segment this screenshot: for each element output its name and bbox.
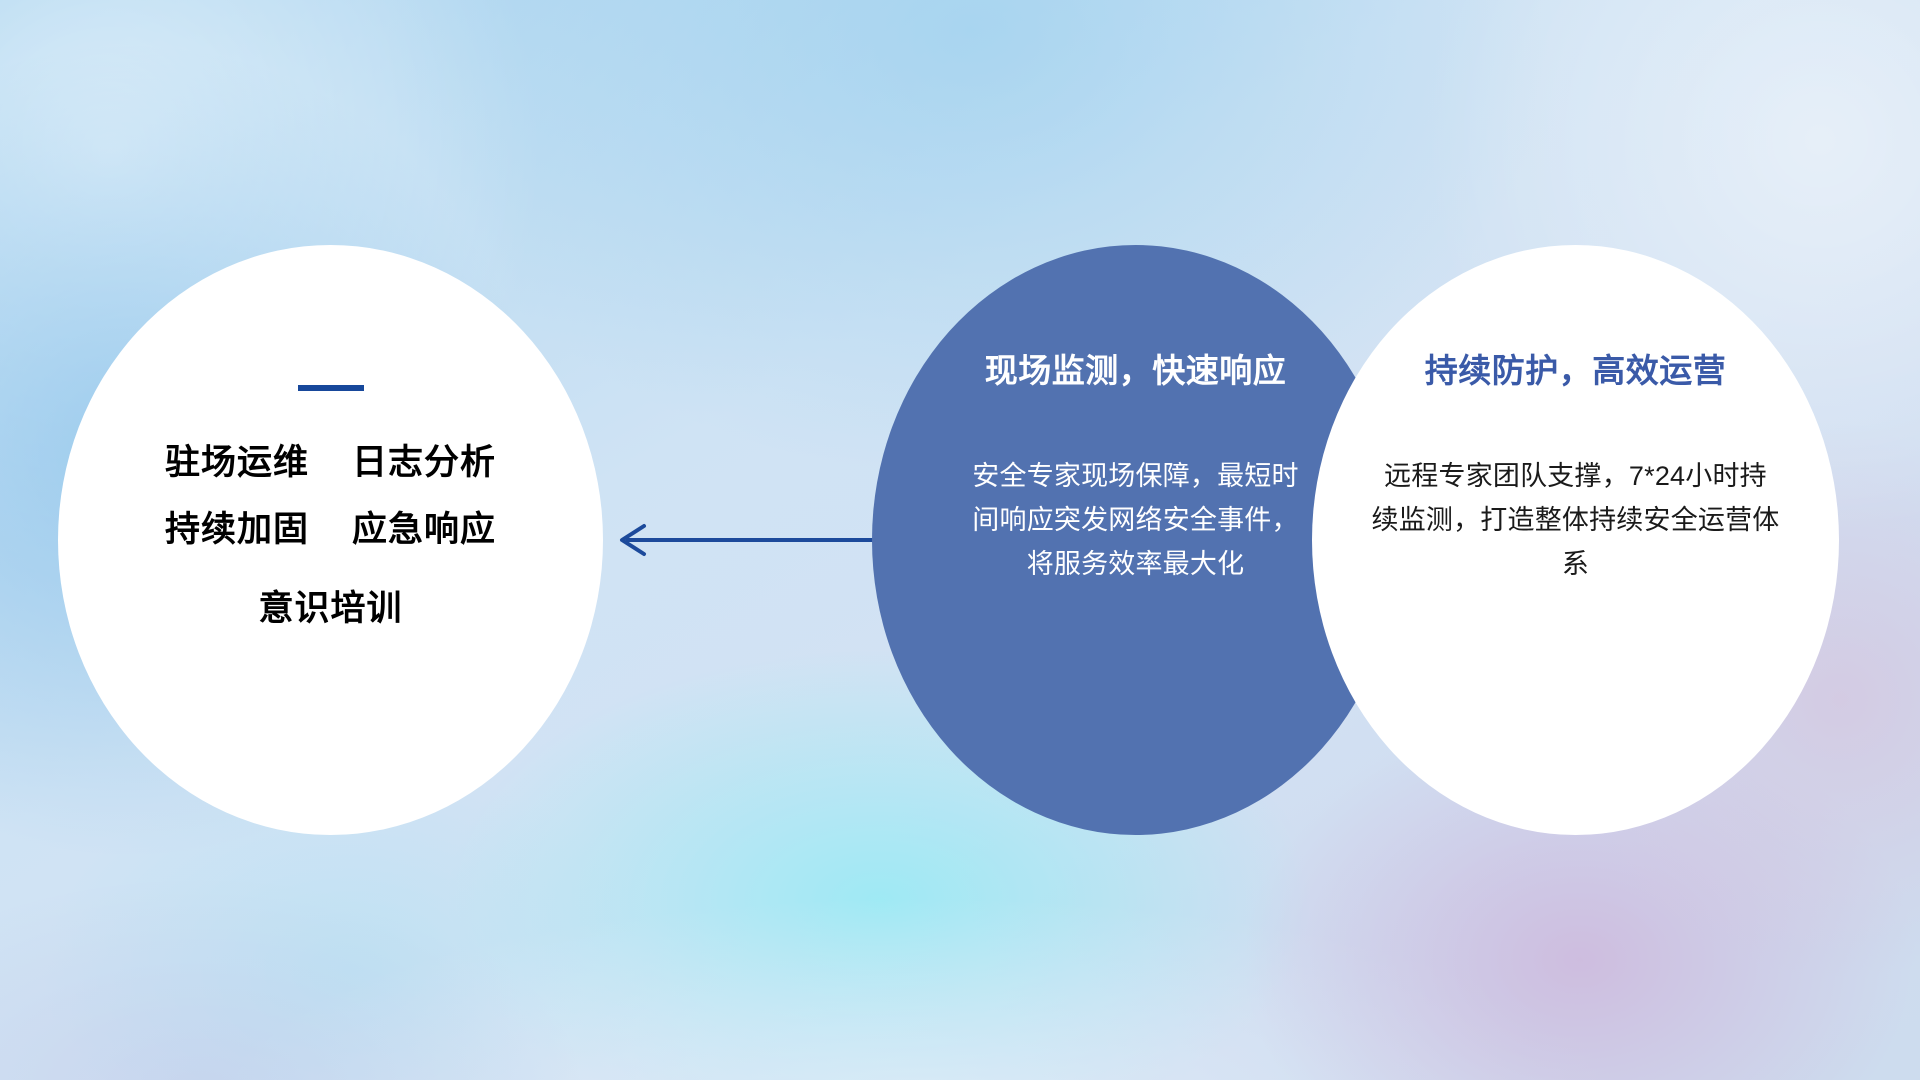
flow-arrow-icon [600, 512, 890, 568]
capability-circle-left: 驻场运维 日志分析 持续加固 应急响应 意识培训 [58, 245, 603, 835]
onsite-monitoring-body: 安全专家现场保障，最短时间响应突发网络安全事件，将服务效率最大化 [971, 455, 1301, 586]
continuous-protection-title: 持续防护，高效运营 [1425, 353, 1727, 389]
background-glow-bottom-left-lilac [0, 880, 580, 1080]
slide-canvas: 驻场运维 日志分析 持续加固 应急响应 意识培训 现场监测，快速响应 安全专家现… [0, 0, 1920, 1080]
continuous-protection-body: 远程专家团队支撑，7*24小时持续监测，打造整体持续安全运营体系 [1372, 455, 1780, 586]
onsite-monitoring-title: 现场监测，快速响应 [985, 353, 1287, 389]
background-glow-bottom-white [220, 900, 1620, 1080]
capability-line-1: 驻场运维 日志分析 [165, 445, 496, 480]
accent-dash-divider [298, 385, 364, 391]
feature-circle-continuous-protection: 持续防护，高效运营 远程专家团队支撑，7*24小时持续监测，打造整体持续安全运营… [1312, 245, 1839, 835]
capability-line-2: 持续加固 应急响应 [165, 512, 496, 547]
capability-line-3: 意识培训 [258, 591, 402, 626]
